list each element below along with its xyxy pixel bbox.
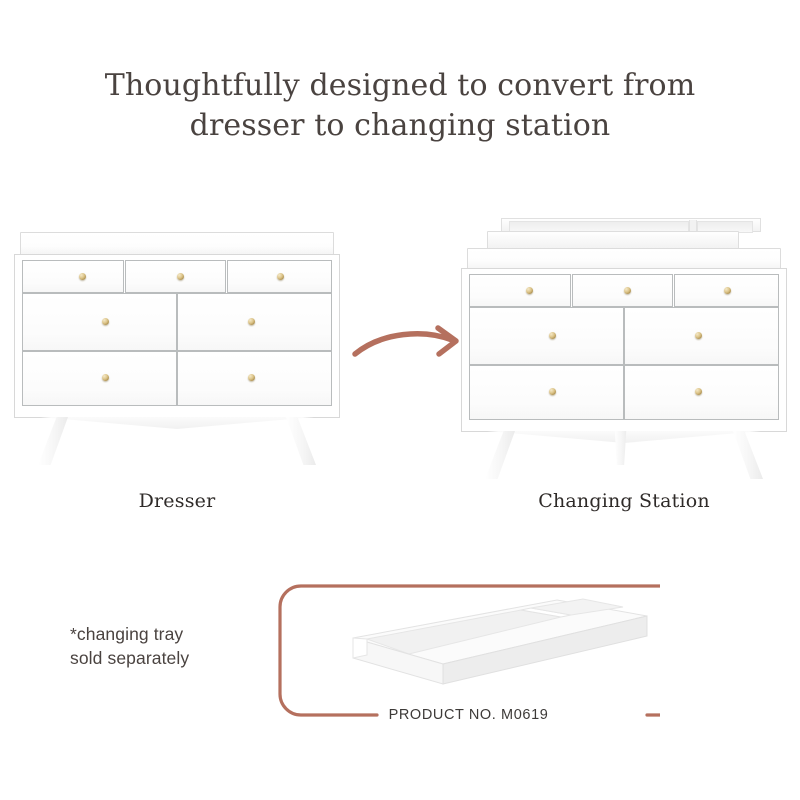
infographic-root: Thoughtfully designed to convert from dr… bbox=[0, 0, 800, 800]
note-line-2: sold separately bbox=[70, 646, 189, 670]
dresser-knob-mid-right[interactable] bbox=[248, 318, 255, 325]
dresser-leg-left bbox=[38, 417, 68, 465]
dresser-drawer-mid-left[interactable] bbox=[22, 293, 177, 351]
dresser-knob-top-2[interactable] bbox=[177, 273, 184, 280]
changing-tray-note: *changing tray sold separately bbox=[70, 622, 189, 670]
station-drawer-top-1[interactable] bbox=[469, 274, 571, 307]
station-knob-top-1[interactable] bbox=[526, 287, 533, 294]
dresser-knob-top-1[interactable] bbox=[79, 273, 86, 280]
station-knob-bottom-left[interactable] bbox=[549, 388, 556, 395]
station-drawer-mid-left[interactable] bbox=[469, 307, 624, 365]
station-knob-top-3[interactable] bbox=[724, 287, 731, 294]
dresser-knob-top-3[interactable] bbox=[277, 273, 284, 280]
station-knob-bottom-right[interactable] bbox=[695, 388, 702, 395]
station-top-surface bbox=[467, 248, 781, 270]
dresser-drawer-top-1[interactable] bbox=[22, 260, 124, 293]
product-number-label: PRODUCT NO. M0619 bbox=[277, 707, 660, 723]
station-knob-mid-left[interactable] bbox=[549, 332, 556, 339]
station-caption: Changing Station bbox=[461, 490, 787, 512]
dresser-leg-right bbox=[286, 417, 316, 465]
dresser-drawer-bottom-left[interactable] bbox=[22, 351, 177, 406]
product-dresser: Dresser bbox=[14, 232, 340, 472]
changing-tray-product-image bbox=[325, 592, 655, 702]
dresser-knob-bottom-right[interactable] bbox=[248, 374, 255, 381]
dresser-drawer-top-2[interactable] bbox=[125, 260, 226, 293]
station-drawer-bottom-left[interactable] bbox=[469, 365, 624, 420]
dresser-top-surface bbox=[20, 232, 334, 256]
station-knob-mid-right[interactable] bbox=[695, 332, 702, 339]
station-knob-top-2[interactable] bbox=[624, 287, 631, 294]
dresser-knob-bottom-left[interactable] bbox=[102, 374, 109, 381]
station-drawer-top-2[interactable] bbox=[572, 274, 673, 307]
page-title: Thoughtfully designed to convert from dr… bbox=[0, 66, 800, 146]
conversion-arrow bbox=[352, 312, 477, 382]
note-line-1: *changing tray bbox=[70, 622, 189, 646]
station-leg-right bbox=[733, 431, 763, 479]
dresser-apron bbox=[40, 417, 314, 429]
dresser-caption: Dresser bbox=[14, 490, 340, 512]
dresser-knob-mid-left[interactable] bbox=[102, 318, 109, 325]
headline-line-2: dresser to changing station bbox=[0, 106, 800, 146]
product-changing-station: Changing Station bbox=[461, 218, 787, 472]
station-leg-left bbox=[485, 431, 515, 479]
headline-line-1: Thoughtfully designed to convert from bbox=[0, 66, 800, 106]
station-leg-center bbox=[614, 431, 627, 465]
